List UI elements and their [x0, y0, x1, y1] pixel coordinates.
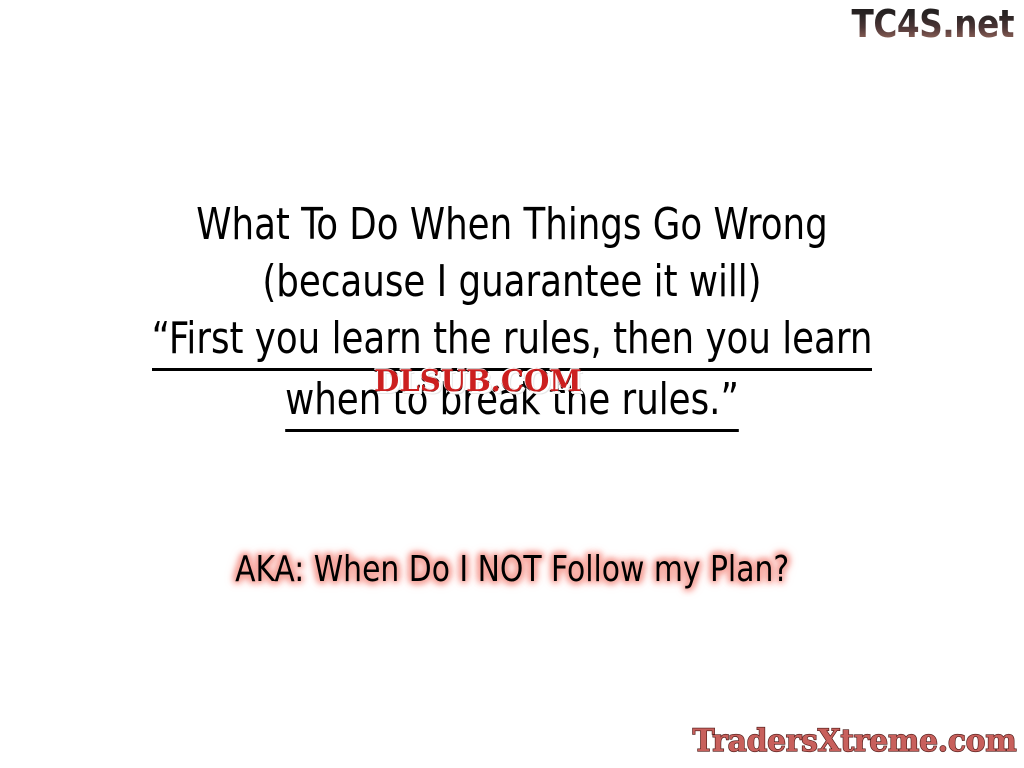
headline-line-2: (because I guarantee it will): [51, 253, 973, 310]
headline-line-3: “First you learn the rules, then you lea…: [51, 310, 973, 371]
tradersxtreme-logo: TradersXtreme.com: [692, 722, 1016, 760]
subhead-line: AKA: When Do I NOT Follow my Plan?: [0, 546, 1024, 594]
dlsub-watermark: DLSUB.COM: [374, 366, 582, 398]
headline-line-1-text: What To Do When Things Go Wrong: [196, 199, 827, 250]
slide-canvas: TC4S.net What To Do When Things Go Wrong…: [0, 0, 1024, 768]
headline-line-2-text: (because I guarantee it will): [262, 256, 761, 307]
subhead-text: AKA: When Do I NOT Follow my Plan?: [235, 546, 789, 594]
tc4s-logo: TC4S.net: [851, 2, 1014, 46]
headline-line-1: What To Do When Things Go Wrong: [51, 196, 973, 253]
headline-line-3-text: “First you learn the rules, then you lea…: [152, 310, 873, 371]
